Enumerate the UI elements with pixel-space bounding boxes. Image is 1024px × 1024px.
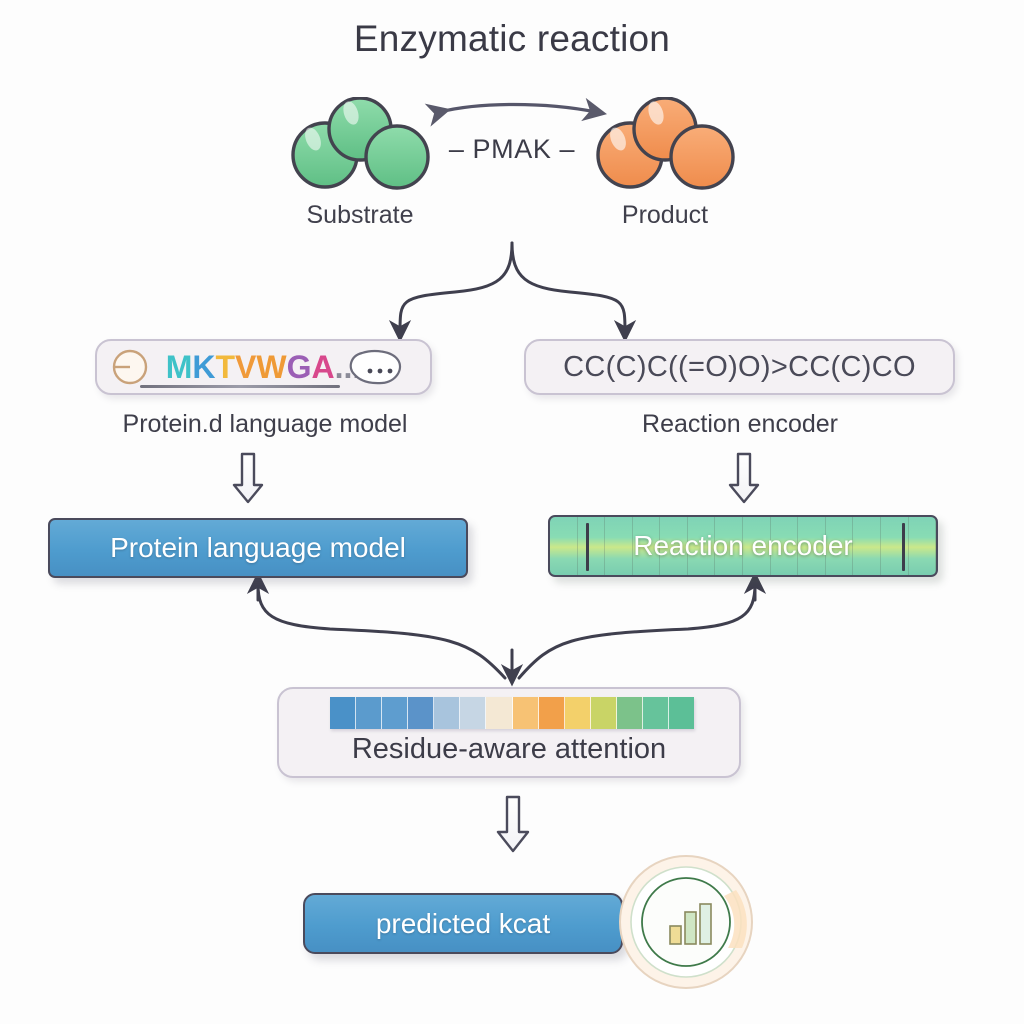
sequence-char-3: V: [235, 349, 256, 386]
attention-heatmap-strip: [330, 697, 694, 729]
product-label: Product: [545, 201, 785, 230]
sequence-char-7: .: [335, 349, 344, 386]
sequence-char-2: T: [216, 349, 236, 386]
sequence-char-4: W: [256, 349, 286, 386]
attention-cell-1: [356, 697, 382, 729]
split-arrow: [400, 243, 625, 332]
reaction-encoder-label: Reaction encoder: [550, 517, 936, 575]
sequence-char-1: K: [192, 349, 215, 386]
product-molecule: [590, 97, 740, 197]
badge-bar-0: [670, 926, 681, 944]
sequence-char-6: A: [311, 349, 334, 386]
predicted-kcat-box[interactable]: predicted kcat: [303, 893, 623, 954]
residue-aware-attention-label: Residue-aware attention: [277, 733, 741, 766]
diagram-canvas: Enzymatic reaction: [0, 0, 1024, 1024]
catalyst-label: – PMAK –: [412, 134, 612, 165]
down-arrow-icon-reaction: [727, 452, 761, 504]
attention-cell-5: [460, 697, 486, 729]
down-arrow-icon-output: [495, 795, 531, 853]
sequence-char-5: G: [287, 349, 312, 386]
badge-bar-2: [700, 904, 711, 944]
attention-cell-6: [486, 697, 512, 729]
sequence-char-0: M: [166, 349, 193, 386]
attention-cell-3: [408, 697, 434, 729]
attention-cell-7: [513, 697, 539, 729]
attention-cell-4: [434, 697, 460, 729]
protein-language-model-label: Protein language model: [50, 520, 466, 576]
reaction-arrow: [440, 105, 596, 113]
reaction-smiles-text: CC(C)C((=O)O)>CC(C)CO: [524, 339, 955, 395]
attention-cell-11: [617, 697, 643, 729]
protein-sequence-caption: Protein.d language model: [30, 410, 500, 439]
predicted-kcat-label: predicted kcat: [305, 895, 621, 952]
sequence-ellipsis-blob-icon: [344, 344, 406, 390]
attention-cell-9: [565, 697, 591, 729]
attention-cell-12: [643, 697, 669, 729]
down-arrow-icon-protein: [231, 452, 265, 504]
reaction-smiles-caption: Reaction encoder: [520, 410, 960, 439]
attention-cell-0: [330, 697, 356, 729]
attention-cell-2: [382, 697, 408, 729]
sequence-underline: [140, 385, 340, 388]
attention-cell-10: [591, 697, 617, 729]
attention-cell-8: [539, 697, 565, 729]
protein-language-model-box[interactable]: Protein language model: [48, 518, 468, 578]
bar-chart-icon: [616, 852, 756, 992]
sequence-start-icon: [110, 346, 150, 388]
reaction-encoder-box[interactable]: Reaction encoder: [548, 515, 938, 577]
attention-cell-13: [669, 697, 694, 729]
merge-arrow: [258, 582, 755, 678]
badge-bar-1: [685, 912, 696, 944]
substrate-label: Substrate: [240, 201, 480, 230]
diagram-title: Enzymatic reaction: [0, 18, 1024, 60]
